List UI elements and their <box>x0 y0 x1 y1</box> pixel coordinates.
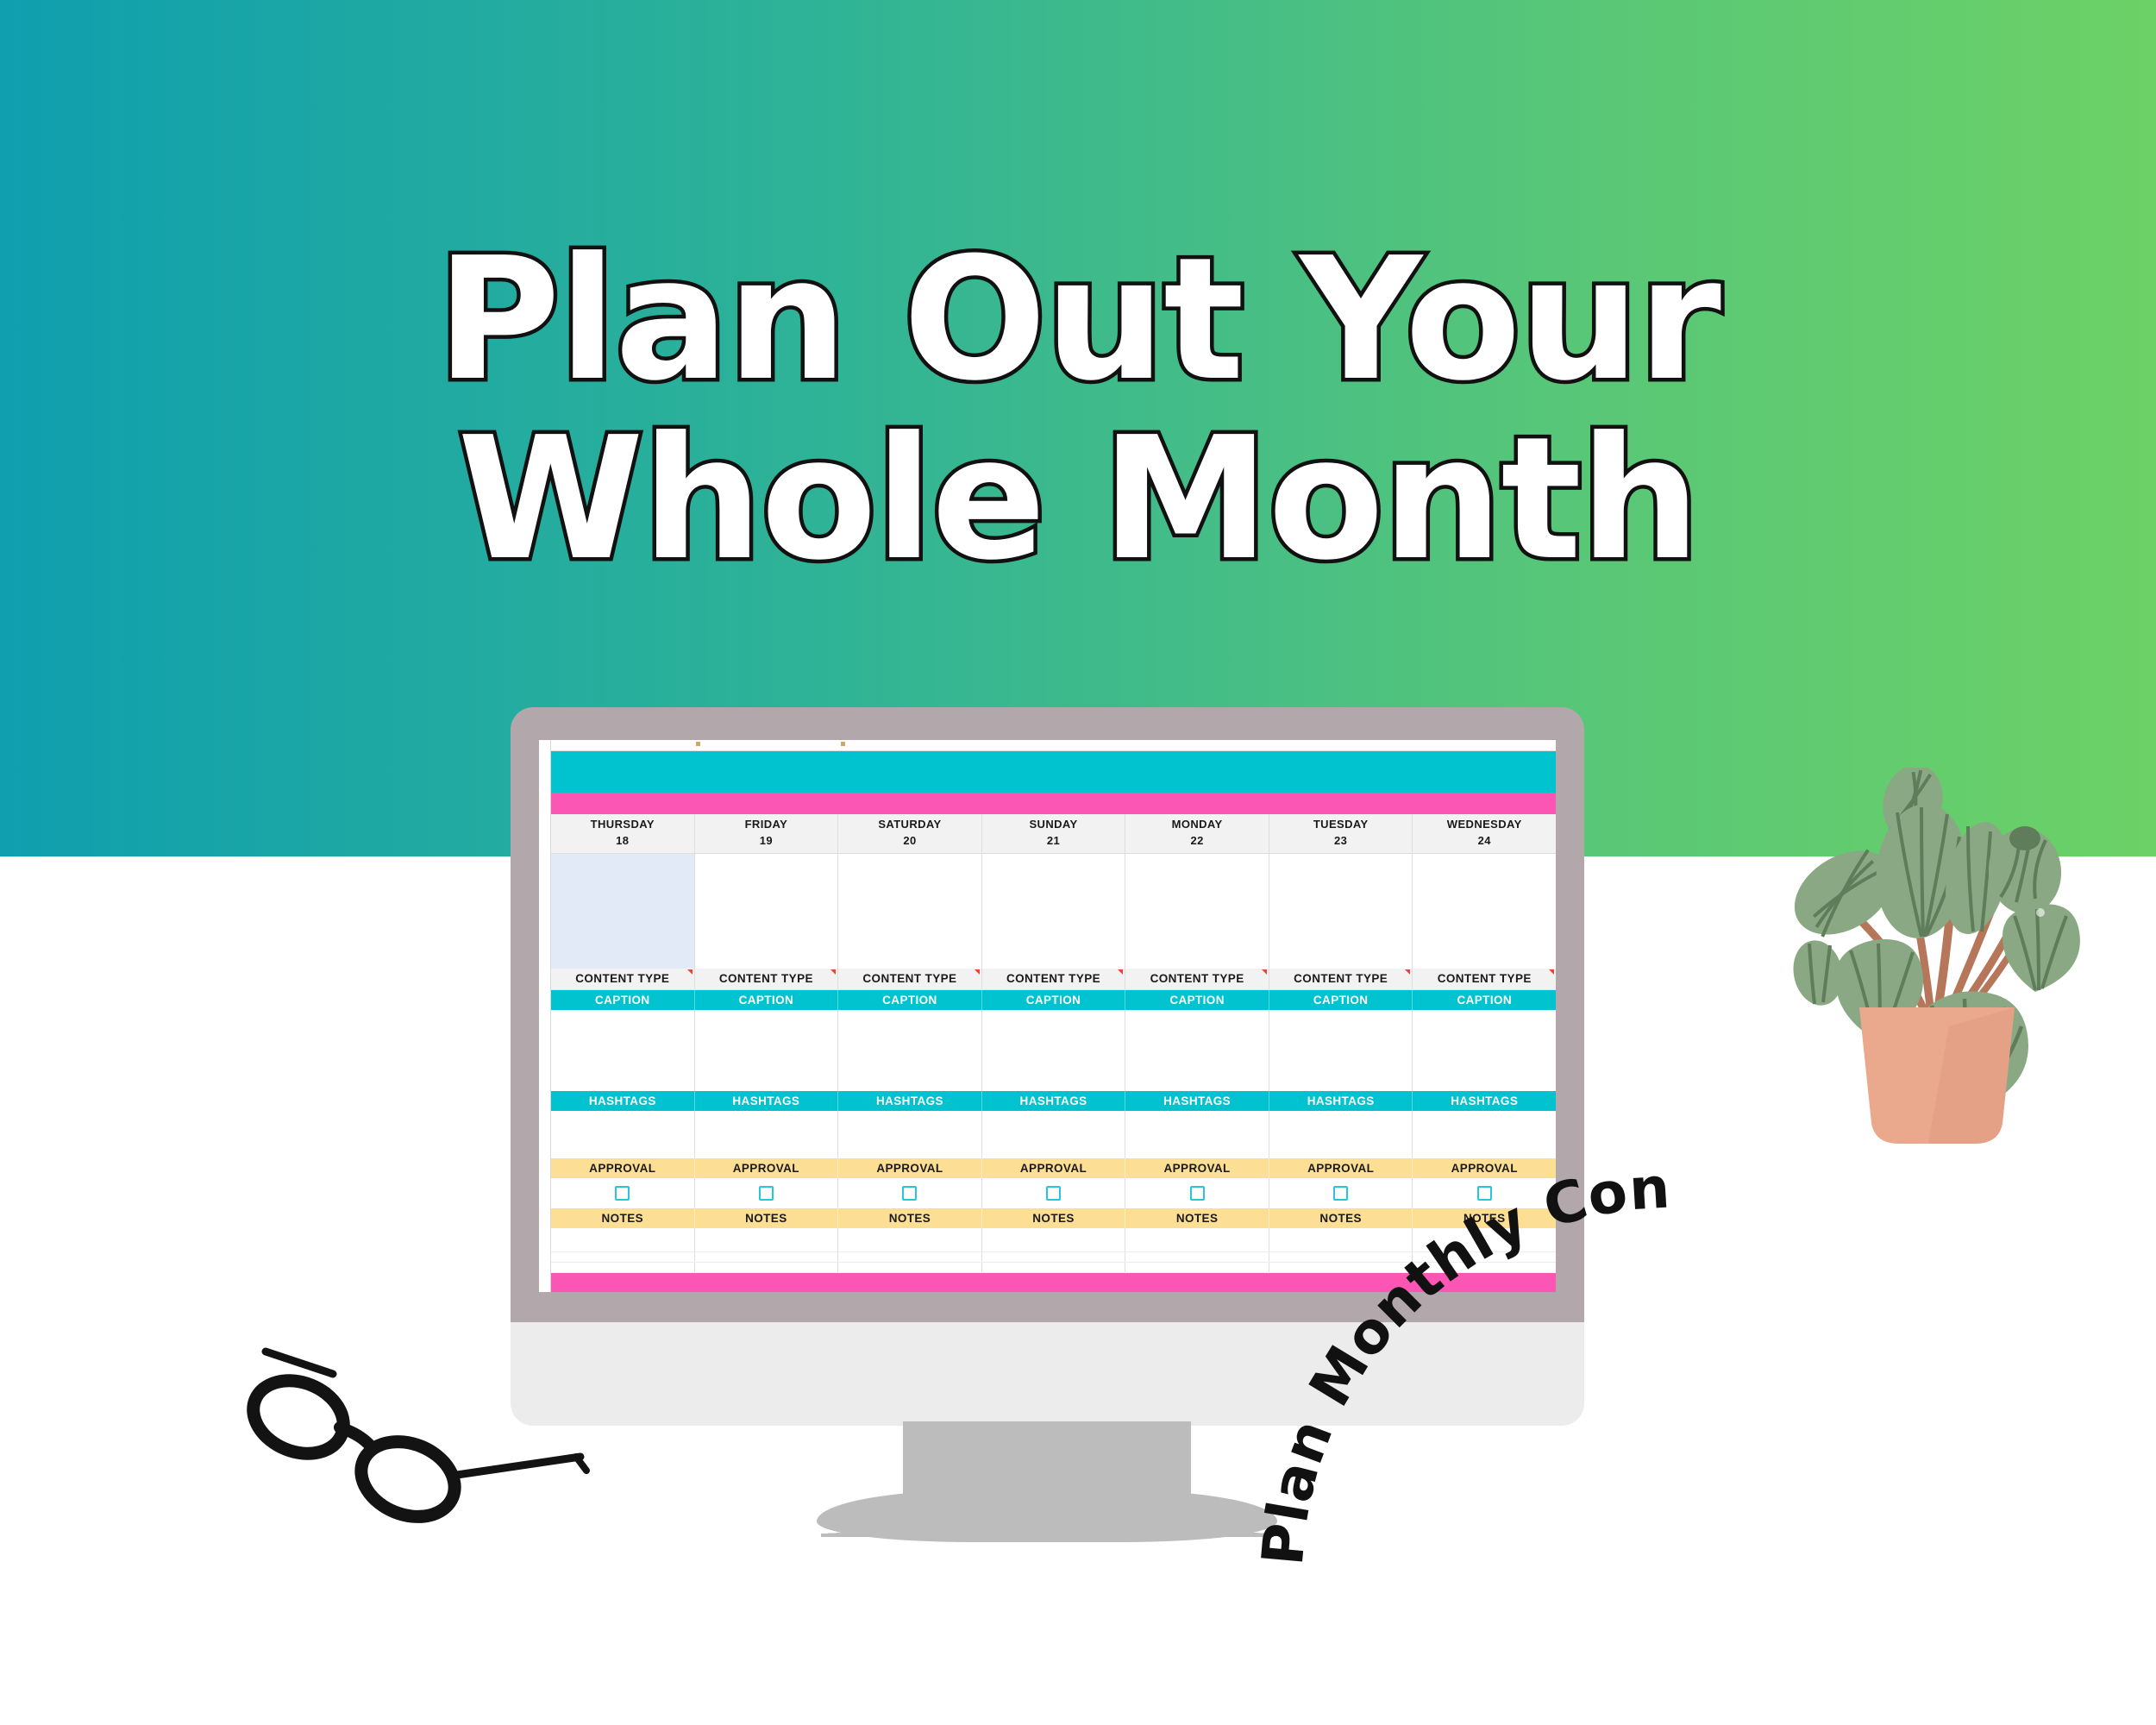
hashtags-entry-cell[interactable] <box>695 1111 839 1158</box>
day-name: THURSDAY <box>591 817 655 833</box>
caption-row: CAPTION CAPTION CAPTION CAPTION CAPTION … <box>551 990 1556 1010</box>
caption-label-cell[interactable]: CAPTION <box>1269 990 1413 1010</box>
caption-label-cell[interactable]: CAPTION <box>695 990 839 1010</box>
notes-label: NOTES <box>745 1212 787 1225</box>
spreadsheet-top-strip <box>551 740 1556 751</box>
caption-label-cell[interactable]: CAPTION <box>838 990 982 1010</box>
notes-entry-cell[interactable] <box>551 1263 695 1272</box>
curved-caption-text: Plan Monthly Content <box>1250 1008 1672 1568</box>
hashtags-label: HASHTAGS <box>1020 1095 1087 1107</box>
day-number: 19 <box>760 833 773 850</box>
notes-entry-cell[interactable] <box>695 1263 839 1272</box>
approval-label: APPROVAL <box>1020 1162 1087 1175</box>
monitor-stand-foot <box>817 1490 1277 1542</box>
hashtags-label-cell[interactable]: HASHTAGS <box>695 1091 839 1111</box>
caption-label: CAPTION <box>882 994 937 1007</box>
day-number: 18 <box>616 833 629 850</box>
image-cell[interactable] <box>838 854 982 969</box>
content-type-label-cell[interactable]: CONTENT TYPE <box>982 969 1126 989</box>
curved-caption: Plan Monthly Content <box>1285 1061 1889 1665</box>
caption-entry-cell[interactable] <box>1125 1010 1269 1092</box>
content-type-label-cell[interactable]: CONTENT TYPE <box>1269 969 1413 989</box>
content-type-label-cell[interactable]: CONTENT TYPE <box>1125 969 1269 989</box>
content-type-label-cell[interactable]: CONTENT TYPE <box>695 969 839 989</box>
spreadsheet-row-gutter[interactable] <box>539 740 551 1292</box>
comment-marker-icon <box>1549 969 1554 975</box>
approval-checkbox-cell[interactable] <box>551 1178 695 1208</box>
day-number: 24 <box>1478 833 1491 850</box>
content-type-label: CONTENT TYPE <box>1006 972 1100 985</box>
hashtags-entry-cell[interactable] <box>838 1111 982 1158</box>
notes-label: NOTES <box>1032 1212 1075 1225</box>
caption-entry-cell[interactable] <box>982 1010 1126 1092</box>
caption-label-cell[interactable]: CAPTION <box>1125 990 1269 1010</box>
caption-label: CAPTION <box>595 994 650 1007</box>
notes-label-cell[interactable]: NOTES <box>551 1208 695 1228</box>
notes-entry-cell[interactable] <box>838 1252 982 1262</box>
caption-entry-cell[interactable] <box>838 1010 982 1092</box>
page-title: Plan Out Your Whole Month <box>0 231 2156 590</box>
approval-label-cell[interactable]: APPROVAL <box>838 1158 982 1178</box>
day-number: 21 <box>1047 833 1060 850</box>
checkbox-icon[interactable] <box>759 1186 774 1201</box>
image-area-row[interactable] <box>551 854 1556 969</box>
notes-entry-cell[interactable] <box>1125 1252 1269 1262</box>
comment-marker-icon <box>830 969 836 975</box>
approval-label: APPROVAL <box>876 1162 943 1175</box>
caption-label-cell[interactable]: CAPTION <box>551 990 695 1010</box>
caption-label: CAPTION <box>1457 994 1512 1007</box>
cell-marker-icon <box>696 742 700 746</box>
notes-label: NOTES <box>889 1212 931 1225</box>
content-type-label: CONTENT TYPE <box>1438 972 1532 985</box>
approval-label-cell[interactable]: APPROVAL <box>695 1158 839 1178</box>
cell-marker-icon <box>841 742 845 746</box>
notes-entry-cell[interactable] <box>551 1228 695 1251</box>
hashtags-label-cell[interactable]: HASHTAGS <box>982 1091 1126 1111</box>
day-number: 22 <box>1190 833 1203 850</box>
approval-label: APPROVAL <box>589 1162 655 1175</box>
approval-checkbox-cell[interactable] <box>982 1178 1126 1208</box>
caption-label: CAPTION <box>1313 994 1369 1007</box>
notes-label-cell[interactable]: NOTES <box>1125 1208 1269 1228</box>
image-cell[interactable] <box>551 854 695 969</box>
notes-entry-cell[interactable] <box>982 1228 1126 1251</box>
caption-label: CAPTION <box>739 994 794 1007</box>
caption-label: CAPTION <box>1026 994 1081 1007</box>
caption-label-cell[interactable]: CAPTION <box>1413 990 1556 1010</box>
day-header-cell[interactable]: TUESDAY 23 <box>1269 814 1413 853</box>
day-header-cell[interactable]: MONDAY 22 <box>1125 814 1269 853</box>
notes-entry-cell[interactable] <box>838 1263 982 1272</box>
image-cell[interactable] <box>1125 854 1269 969</box>
approval-checkbox-cell[interactable] <box>1125 1178 1269 1208</box>
notes-entry-cell[interactable] <box>982 1252 1126 1262</box>
content-type-label-cell[interactable]: CONTENT TYPE <box>838 969 982 989</box>
checkbox-icon[interactable] <box>1046 1186 1061 1201</box>
notes-label-cell[interactable]: NOTES <box>695 1208 839 1228</box>
content-type-label-cell[interactable]: CONTENT TYPE <box>1413 969 1556 989</box>
eyeglasses-illustration <box>231 1341 593 1565</box>
day-number: 23 <box>1334 833 1347 850</box>
hashtags-label: HASHTAGS <box>589 1095 656 1107</box>
caption-label: CAPTION <box>1169 994 1225 1007</box>
comment-marker-icon <box>687 969 693 975</box>
day-header-row: THURSDAY 18 FRIDAY 19 SATURDAY 20 SUND <box>551 814 1556 854</box>
approval-label: APPROVAL <box>1163 1162 1230 1175</box>
day-name: WEDNESDAY <box>1447 817 1522 833</box>
hashtags-label: HASHTAGS <box>732 1095 799 1107</box>
approval-checkbox-cell[interactable] <box>695 1178 839 1208</box>
notes-entry-cell[interactable] <box>695 1228 839 1251</box>
notes-label: NOTES <box>602 1212 644 1225</box>
notes-entry-cell[interactable] <box>1125 1228 1269 1251</box>
banner-pink-top <box>551 793 1556 814</box>
image-cell[interactable] <box>1269 854 1413 969</box>
page-title-line-2: Whole Month <box>0 411 2156 590</box>
day-name: TUESDAY <box>1313 817 1369 833</box>
caption-label-cell[interactable]: CAPTION <box>982 990 1126 1010</box>
banner-teal-top <box>551 751 1556 793</box>
checkbox-icon[interactable] <box>1190 1186 1205 1201</box>
content-type-row: CONTENT TYPE CONTENT TYPE CONTENT TYPE <box>551 969 1556 990</box>
comment-marker-icon <box>1118 969 1123 975</box>
page-title-line-1: Plan Out Your <box>0 231 2156 411</box>
day-header-cell[interactable]: SUNDAY 21 <box>982 814 1126 853</box>
approval-label-cell[interactable]: APPROVAL <box>982 1158 1126 1178</box>
content-type-label: CONTENT TYPE <box>719 972 813 985</box>
day-header-cell[interactable]: WEDNESDAY 24 <box>1413 814 1556 853</box>
approval-label: APPROVAL <box>733 1162 799 1175</box>
hashtags-label-cell[interactable]: HASHTAGS <box>838 1091 982 1111</box>
notes-label-cell[interactable]: NOTES <box>838 1208 982 1228</box>
notes-entry-cell[interactable] <box>838 1228 982 1251</box>
comment-marker-icon <box>1262 969 1267 975</box>
hashtags-entry-cell[interactable] <box>982 1111 1126 1158</box>
content-type-label: CONTENT TYPE <box>862 972 956 985</box>
approval-checkbox-cell[interactable] <box>838 1178 982 1208</box>
checkbox-icon[interactable] <box>615 1186 630 1201</box>
image-cell[interactable] <box>1413 854 1556 969</box>
day-name: SUNDAY <box>1029 817 1077 833</box>
notes-entry-cell[interactable] <box>695 1252 839 1262</box>
caption-entry-cell[interactable] <box>695 1010 839 1092</box>
hashtags-label: HASHTAGS <box>1163 1095 1231 1107</box>
caption-entry-cell[interactable] <box>551 1010 695 1092</box>
hashtags-entry-cell[interactable] <box>1125 1111 1269 1158</box>
day-name: MONDAY <box>1172 817 1223 833</box>
content-type-label: CONTENT TYPE <box>575 972 669 985</box>
day-number: 20 <box>903 833 916 850</box>
comment-marker-icon <box>1405 969 1410 975</box>
hashtags-label-cell[interactable]: HASHTAGS <box>551 1091 695 1111</box>
day-header-cell[interactable]: SATURDAY 20 <box>838 814 982 853</box>
comment-marker-icon <box>975 969 980 975</box>
checkbox-icon[interactable] <box>902 1186 917 1201</box>
day-name: FRIDAY <box>745 817 788 833</box>
notes-label: NOTES <box>1176 1212 1219 1225</box>
day-name: SATURDAY <box>878 817 941 833</box>
content-type-label: CONTENT TYPE <box>1150 972 1244 985</box>
content-type-label-cell[interactable]: CONTENT TYPE <box>551 969 695 989</box>
hashtags-label: HASHTAGS <box>876 1095 943 1107</box>
image-cell[interactable] <box>982 854 1126 969</box>
approval-label-cell[interactable]: APPROVAL <box>1125 1158 1269 1178</box>
content-type-label: CONTENT TYPE <box>1294 972 1388 985</box>
hashtags-label-cell[interactable]: HASHTAGS <box>1125 1091 1269 1111</box>
day-header-cell[interactable]: THURSDAY 18 <box>551 814 695 853</box>
notes-entry-cell[interactable] <box>551 1252 695 1262</box>
notes-label-cell[interactable]: NOTES <box>982 1208 1126 1228</box>
image-cell[interactable] <box>695 854 839 969</box>
approval-label-cell[interactable]: APPROVAL <box>551 1158 695 1178</box>
hashtags-entry-cell[interactable] <box>551 1111 695 1158</box>
notes-entry-cell[interactable] <box>1125 1263 1269 1272</box>
day-header-cell[interactable]: FRIDAY 19 <box>695 814 839 853</box>
notes-entry-cell[interactable] <box>982 1263 1126 1272</box>
